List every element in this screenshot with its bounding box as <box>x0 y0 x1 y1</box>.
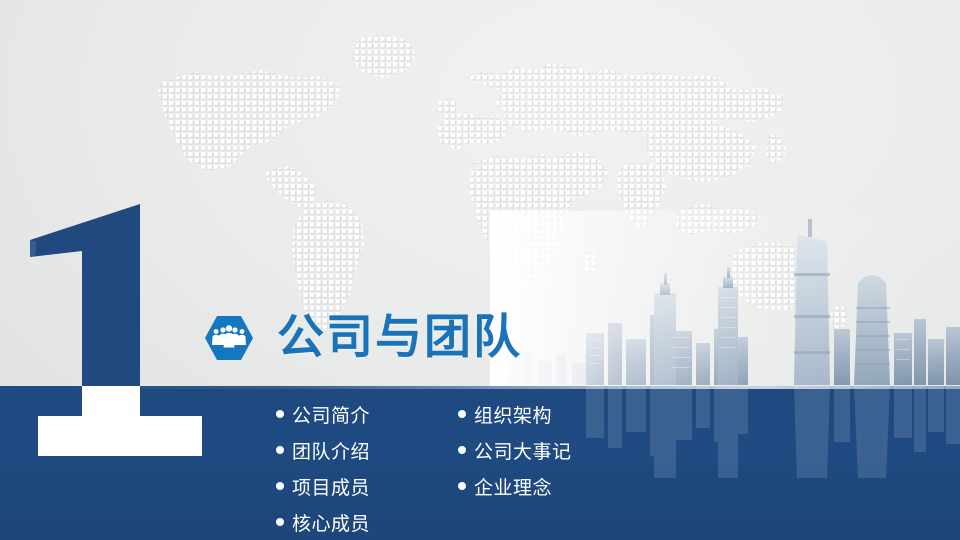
list-item[interactable]: 项目成员 <box>276 468 458 504</box>
list-item[interactable]: 公司简介 <box>276 396 458 432</box>
section-number-graphic <box>0 186 220 468</box>
bullet-dot-icon <box>276 482 284 490</box>
list-item-label: 团队介绍 <box>292 437 370 464</box>
bullet-dot-icon <box>458 446 466 454</box>
bullet-dot-icon <box>458 482 466 490</box>
list-item-label: 公司大事记 <box>474 437 572 464</box>
page-title: 公司与团队 <box>277 312 522 364</box>
section-heading: 公司与团队 <box>203 312 522 364</box>
list-item[interactable]: 团队介绍 <box>276 432 458 468</box>
list-item[interactable]: 组织架构 <box>458 396 658 432</box>
list-item[interactable]: 公司大事记 <box>458 432 658 468</box>
list-item[interactable]: 企业理念 <box>458 468 658 504</box>
bullet-dot-icon <box>276 446 284 454</box>
list-item-label: 企业理念 <box>474 473 552 500</box>
bullet-dot-icon <box>458 410 466 418</box>
list-item-label: 公司简介 <box>292 401 370 428</box>
agenda-list: 公司简介 团队介绍 项目成员 核心成员 组织架构 公司大事记 <box>276 396 696 540</box>
list-item-label: 项目成员 <box>292 473 370 500</box>
bullet-dot-icon <box>276 410 284 418</box>
agenda-column-2: 组织架构 公司大事记 企业理念 <box>458 396 658 540</box>
agenda-column-1: 公司简介 团队介绍 项目成员 核心成员 <box>276 396 458 540</box>
list-item[interactable]: 核心成员 <box>276 504 458 540</box>
list-item-label: 核心成员 <box>292 509 370 536</box>
group-people-hexagon-icon <box>203 312 255 364</box>
bullet-dot-icon <box>276 518 284 526</box>
presentation-slide: 公司与团队 公司简介 团队介绍 项目成员 核心成员 组 <box>0 0 960 540</box>
city-skyline-image <box>490 211 960 386</box>
dotted-world-map <box>118 24 908 354</box>
list-item-label: 组织架构 <box>474 401 552 428</box>
